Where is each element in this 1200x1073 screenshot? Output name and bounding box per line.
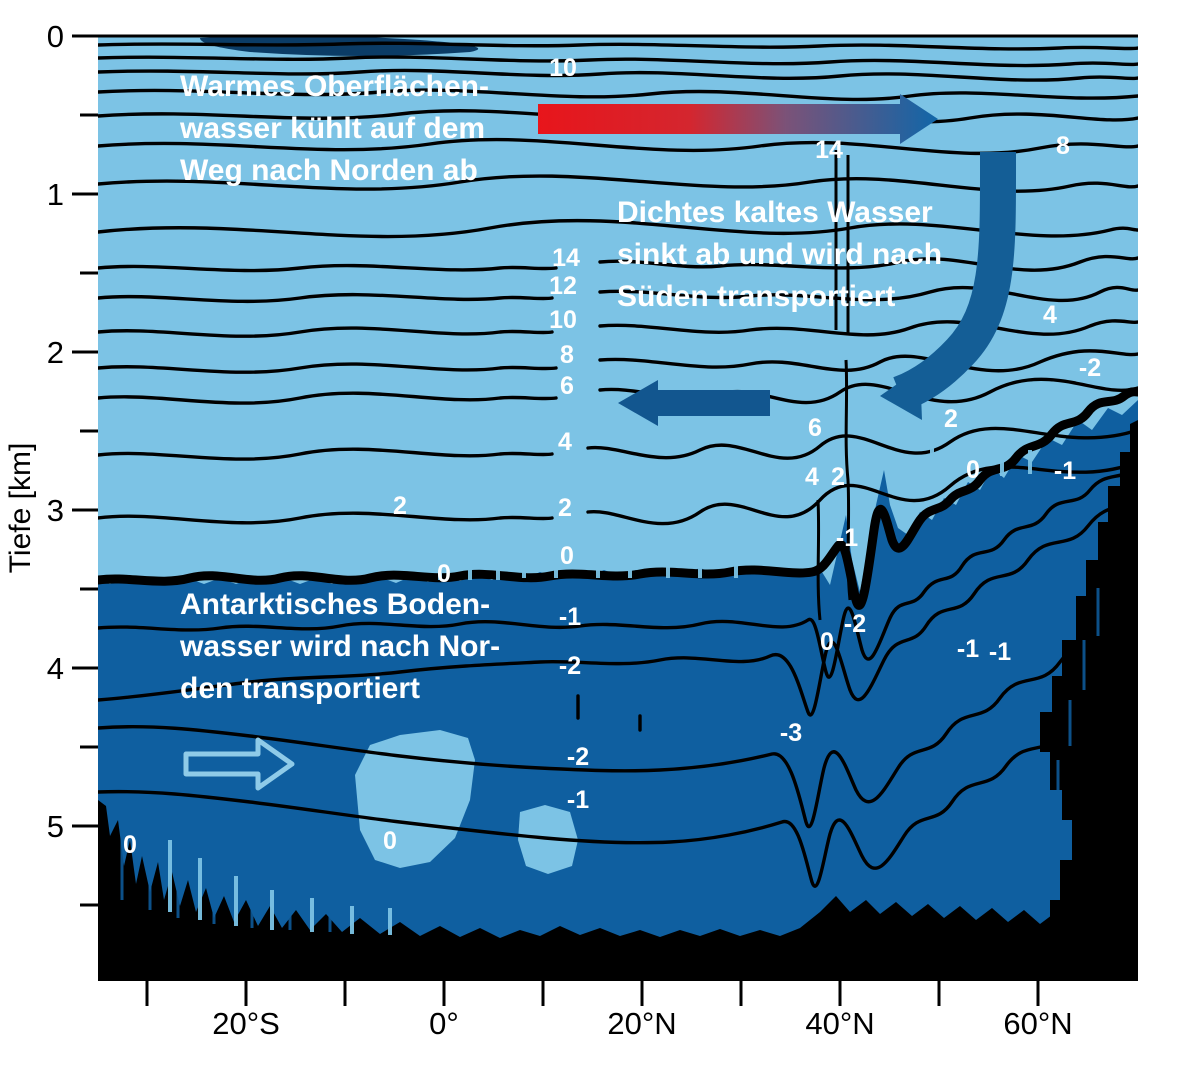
annotation-warm-surface: Warmes Oberflächen-wasser kühlt auf demW… [179, 70, 489, 187]
contour-label: 4 [805, 463, 819, 491]
contour-label: 2 [944, 405, 958, 433]
contour-label: -1 [559, 603, 581, 631]
contour-label: 0 [437, 560, 451, 588]
annotation-line: den transportiert [180, 672, 420, 705]
x-tick-20s: 20°S [212, 1006, 280, 1041]
y-tick-0: 0 [47, 19, 64, 54]
contour-label: 10 [549, 54, 577, 82]
y-tick-3: 3 [47, 493, 64, 528]
contour-label: 10 [549, 306, 577, 334]
contour-label: 0 [820, 628, 834, 656]
x-tick-20n: 20°N [607, 1006, 676, 1041]
contour-label: -3 [780, 719, 802, 747]
annotation-line: sinkt ab und wird nach [617, 238, 942, 271]
contour-label: -2 [1079, 354, 1101, 382]
contour-label: 14 [552, 244, 580, 272]
contour-label: 6 [560, 372, 574, 400]
annotation-dense-cold: Dichtes kaltes Wassersinkt ab und wird n… [617, 196, 942, 313]
y-axis-tick-labels: 0 1 2 3 4 5 [47, 19, 64, 844]
contour-label: -1 [989, 638, 1011, 666]
annotation-line: Antarktisches Boden- [180, 588, 490, 621]
contour-label: -2 [844, 610, 866, 638]
y-tick-2: 2 [47, 335, 64, 370]
contour-label: 12 [549, 272, 577, 300]
contour-label: -1 [567, 786, 589, 814]
y-tick-5: 5 [47, 809, 64, 844]
contour-label: 8 [1056, 132, 1070, 160]
figure-svg: 0 1 2 3 4 5 Tiefe [km] 20°S 0° 20°N 40°N… [0, 0, 1200, 1073]
contour-label: 2 [558, 494, 572, 522]
contour-label: 0 [966, 456, 980, 484]
annotation-line: Warmes Oberflächen- [180, 70, 489, 103]
contour-label: 8 [560, 341, 574, 369]
x-axis-ticks [147, 981, 1038, 1006]
contour-label: -1 [957, 635, 979, 663]
contour-label: 2 [393, 492, 407, 520]
contour-label: -2 [559, 652, 581, 680]
contour-label: 0 [560, 542, 574, 570]
x-tick-40n: 40°N [805, 1006, 874, 1041]
contour-label: 6 [808, 414, 822, 442]
contour-label: 14 [815, 136, 843, 164]
annotation-line: Dichtes kaltes Wasser [617, 196, 933, 229]
ocean-section-figure: 0 1 2 3 4 5 Tiefe [km] 20°S 0° 20°N 40°N… [0, 0, 1200, 1073]
y-axis-ticks [72, 36, 98, 905]
annotation-line: wasser kühlt auf dem [179, 112, 485, 145]
x-tick-0: 0° [429, 1006, 459, 1041]
y-tick-1: 1 [47, 177, 64, 212]
contour-label: 4 [1043, 301, 1057, 329]
contour-label: 0 [383, 827, 397, 855]
contour-label: -2 [567, 743, 589, 771]
x-tick-60n: 60°N [1003, 1006, 1072, 1041]
annotation-line: Süden transportiert [617, 280, 895, 313]
contour-label: 0 [123, 831, 137, 859]
annotation-line: wasser wird nach Nor- [179, 630, 500, 663]
y-tick-4: 4 [47, 651, 64, 686]
x-axis-tick-labels: 20°S 0° 20°N 40°N 60°N [212, 1006, 1072, 1041]
contour-label: -1 [836, 524, 858, 552]
contour-label: 2 [831, 463, 845, 491]
y-axis-title: Tiefe [km] [4, 443, 37, 574]
contour-label: 4 [558, 428, 572, 456]
annotation-line: Weg nach Norden ab [180, 154, 478, 187]
contour-label: -1 [1054, 457, 1076, 485]
seafloor-abyssal [98, 938, 1138, 981]
